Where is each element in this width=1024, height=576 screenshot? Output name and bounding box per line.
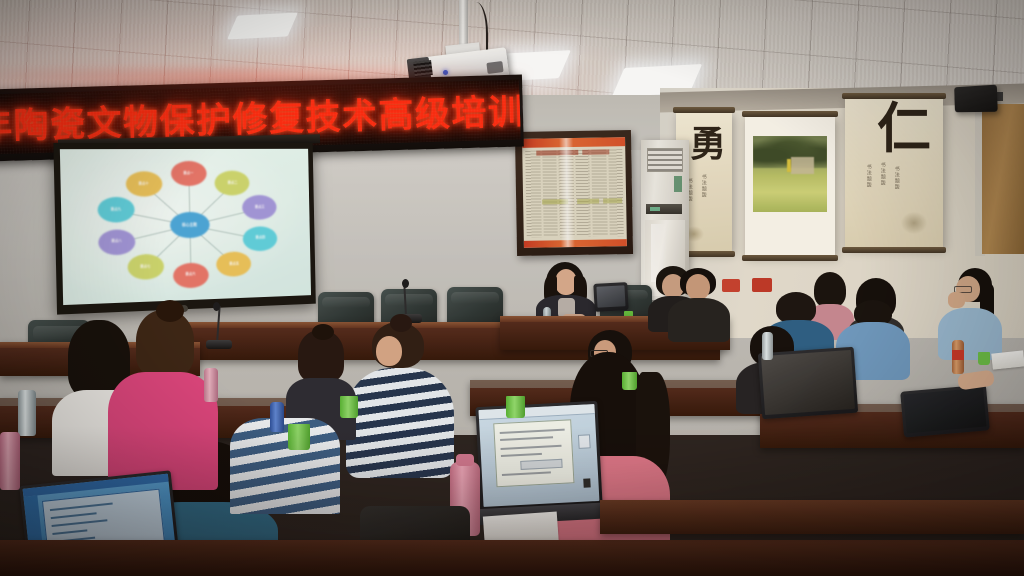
attendee — [668, 268, 730, 340]
scroll-rod-top — [742, 111, 838, 117]
poster-heading-2 — [582, 149, 609, 154]
attendee-body — [668, 298, 730, 342]
microphone-capsule-icon — [402, 279, 409, 288]
diagram-node: 要点七 — [127, 254, 164, 280]
ac-badge — [674, 176, 682, 192]
pink-bottle[interactable] — [204, 368, 218, 402]
attendee-bun — [156, 300, 184, 322]
attendee-head — [686, 274, 710, 300]
scroll-character-yong: 勇 — [690, 128, 726, 160]
water-bottle[interactable] — [18, 390, 36, 436]
scroll-side-text-3: 书法题跋 — [893, 166, 900, 228]
foreground-desk — [0, 540, 1024, 576]
attendee-hand — [948, 292, 965, 308]
diagram-node: 要点八 — [98, 229, 135, 255]
laptop-document-window — [493, 419, 574, 487]
scroll-rod-bottom — [742, 255, 838, 261]
green-cup[interactable] — [506, 396, 525, 418]
attendee-body — [938, 308, 1002, 360]
diagram-hub: 核心主题 — [169, 211, 209, 238]
laptop-cursor-icon — [583, 478, 590, 487]
scroll-side-text-2: 书法题跋 — [879, 162, 886, 232]
diagram-node: 要点六 — [172, 262, 208, 288]
photo-building — [791, 157, 813, 174]
scroll-photograph: 乔家大院 — [753, 136, 827, 212]
diagram-node: 要点二 — [215, 171, 250, 196]
presenter-laptop[interactable] — [593, 282, 628, 312]
attendee-blue-shirt — [938, 268, 1002, 358]
scroll-side-text: 书法题跋 — [865, 164, 872, 232]
slide-diagram: 要点一要点二要点三要点四要点五要点六要点七要点八要点九要点十核心主题 — [60, 149, 311, 305]
wooden-door[interactable] — [982, 104, 1024, 254]
bulletin-poster — [522, 137, 627, 248]
diagram-node: 要点一 — [170, 161, 206, 186]
laptop-screen-right — [761, 350, 855, 415]
laptop-screen-center — [479, 404, 600, 507]
diagram-node: 要点五 — [217, 251, 252, 277]
attendee-body-striped — [346, 368, 454, 478]
scroll-ink-bird — [901, 212, 927, 234]
led-banner-glow — [0, 70, 540, 110]
photo-figure — [787, 159, 791, 172]
wall-scroll-ren: 仁 书法题跋 书法题跋 书法题跋 — [845, 98, 943, 248]
diagram-node: 要点九 — [97, 197, 134, 223]
ac-vent-grill — [647, 148, 683, 172]
attendee-bun — [390, 314, 412, 332]
pink-bottle[interactable] — [0, 432, 20, 490]
attendee-laptop-center[interactable] — [475, 401, 602, 511]
conference-room-photo: 勇 书法题跋 书法题跋 乔家大院 仁 书法题跋 书法题跋 书法题跋 — [0, 0, 1024, 576]
water-bottle[interactable] — [762, 332, 773, 360]
presenter-laptop-screen — [596, 285, 625, 307]
projection-screen: 要点一要点二要点三要点四要点五要点六要点七要点八要点九要点十核心主题 — [53, 143, 315, 315]
wall-speaker-icon — [954, 85, 998, 113]
tablet-screen — [903, 388, 986, 434]
soda-label — [952, 350, 964, 360]
poster-highlight-2 — [577, 199, 600, 204]
diagram-node: 要点四 — [243, 226, 278, 251]
ceiling-light-panel — [227, 12, 298, 39]
wall-scroll-photo: 乔家大院 — [745, 116, 835, 256]
attendee-rose-shirt — [108, 310, 218, 486]
attendee-striped-shirt — [346, 322, 454, 472]
attendee-body-striped — [230, 418, 340, 514]
attendee-bun — [312, 324, 334, 340]
attendee-head — [376, 336, 402, 366]
attendee-striped-mid — [230, 388, 340, 508]
diagram-node: 要点十 — [125, 171, 162, 197]
scroll-rod-bottom — [842, 247, 946, 253]
poster-highlight-3 — [603, 198, 622, 203]
screen-surface: 要点一要点二要点三要点四要点五要点六要点七要点八要点九要点十核心主题 — [60, 149, 311, 305]
bulletin-board — [515, 130, 633, 256]
right-front-desk — [600, 500, 1024, 534]
bottle-cap — [456, 454, 474, 466]
scroll-character-ren: 仁 — [877, 104, 931, 153]
soda-bottle[interactable] — [952, 340, 964, 374]
laptop-titlebar — [479, 404, 595, 420]
poster-glass-reflection — [559, 138, 575, 247]
diagram-node: 要点三 — [242, 195, 277, 220]
paper-sheet[interactable] — [991, 350, 1024, 369]
green-cup[interactable] — [340, 396, 358, 418]
green-cup[interactable] — [288, 424, 310, 450]
green-cup[interactable] — [622, 372, 637, 390]
blue-bottle[interactable] — [270, 402, 284, 432]
laptop-side-icon — [578, 434, 591, 449]
green-cup[interactable] — [978, 352, 990, 365]
ac-control-panel[interactable] — [646, 204, 682, 214]
scroll-rod-top — [673, 107, 735, 113]
red-gift-bag[interactable] — [752, 278, 772, 292]
tablet-device[interactable] — [900, 384, 990, 437]
